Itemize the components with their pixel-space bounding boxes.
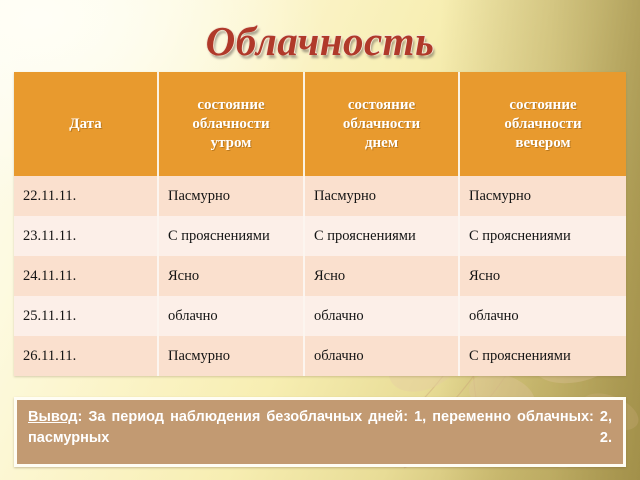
table-row: 23.11.11. С прояснениями С прояснениями …: [14, 216, 626, 256]
column-header-day-line-3: днем: [365, 135, 398, 151]
table-header-row: Дата состояние облачности утром состояни…: [14, 72, 626, 176]
cell-morning: Пасмурно: [158, 176, 304, 216]
table-row: 24.11.11. Ясно Ясно Ясно: [14, 256, 626, 296]
cell-evening: Пасмурно: [459, 176, 626, 216]
cell-evening: С прояснениями: [459, 336, 626, 376]
conclusion-lead-label: Вывод: [28, 409, 77, 425]
cell-morning: Ясно: [158, 256, 304, 296]
cell-morning: С прояснениями: [158, 216, 304, 256]
column-header-morning-line-3: утром: [211, 135, 252, 151]
cell-evening: С прояснениями: [459, 216, 626, 256]
cell-evening: Ясно: [459, 256, 626, 296]
cell-date: 24.11.11.: [14, 256, 158, 296]
page-title: Облачность: [0, 17, 640, 65]
cell-morning: Пасмурно: [158, 336, 304, 376]
cell-day: С прояснениями: [304, 216, 459, 256]
column-header-day: состояние облачности днем: [304, 72, 459, 176]
column-header-evening-line-3: вечером: [515, 135, 570, 151]
column-header-morning-line-2: облачности: [192, 116, 269, 132]
cell-day: Ясно: [304, 256, 459, 296]
slide-canvas: Облачность Дата состояние облачности утр…: [0, 0, 640, 480]
cell-date: 25.11.11.: [14, 296, 158, 336]
table-row: 22.11.11. Пасмурно Пасмурно Пасмурно: [14, 176, 626, 216]
cell-date: 23.11.11.: [14, 216, 158, 256]
column-header-date-line-1: Дата: [69, 116, 101, 132]
cell-day: облачно: [304, 296, 459, 336]
cloudiness-observation-table: Дата состояние облачности утром состояни…: [14, 72, 626, 376]
cell-day: Пасмурно: [304, 176, 459, 216]
cell-day: облачно: [304, 336, 459, 376]
column-header-morning: состояние облачности утром: [158, 72, 304, 176]
table-row: 26.11.11. Пасмурно облачно С прояснениям…: [14, 336, 626, 376]
conclusion-text: : За период наблюдения безоблачных дней:…: [28, 409, 612, 446]
column-header-evening-line-2: облачности: [504, 116, 581, 132]
column-header-morning-line-1: состояние: [197, 97, 264, 113]
table-row: 25.11.11. облачно облачно облачно: [14, 296, 626, 336]
cell-morning: облачно: [158, 296, 304, 336]
cell-date: 22.11.11.: [14, 176, 158, 216]
column-header-day-line-2: облачности: [343, 116, 420, 132]
table-body: 22.11.11. Пасмурно Пасмурно Пасмурно 23.…: [14, 176, 626, 376]
cell-date: 26.11.11.: [14, 336, 158, 376]
cell-evening: облачно: [459, 296, 626, 336]
conclusion-box: Вывод: За период наблюдения безоблачных …: [14, 397, 626, 467]
table-header: Дата состояние облачности утром состояни…: [14, 72, 626, 176]
column-header-day-line-1: состояние: [348, 97, 415, 113]
column-header-evening-line-1: состояние: [509, 97, 576, 113]
column-header-date: Дата: [14, 72, 158, 176]
column-header-evening: состояние облачности вечером: [459, 72, 626, 176]
